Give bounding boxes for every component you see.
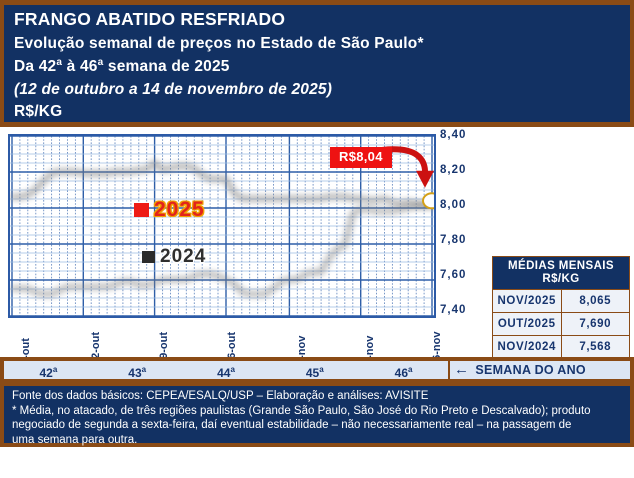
averages-title-cell: MÉDIAS MENSAIS R$/KG (493, 257, 630, 290)
week-number-bar: 42a 43a 44a 45a 46a ← SEMANA DO ANO (0, 357, 634, 383)
week-axis-caption: ← SEMANA DO ANO (454, 361, 586, 379)
table-row: NOV/2024 7,568 (493, 336, 630, 359)
header-panel: FRANGO ABATIDO RESFRIADO Evolução semana… (0, 0, 634, 127)
week-range-post: semana de 2025 (103, 58, 229, 75)
legend-item-2025: 2025 (134, 199, 205, 220)
arrow-left-icon: ← (454, 361, 469, 379)
averages-row-label: OUT/2025 (493, 313, 562, 336)
table-header-row: MÉDIAS MENSAIS R$/KG (493, 257, 630, 290)
chart-zone: 2025 2024 R$8,04 8,40 8,20 8,00 7,80 7,6… (0, 127, 634, 355)
y-tick-label: 8,20 (440, 165, 492, 177)
footer-note-line: negociado de segunda a sexta-feira, daí … (12, 418, 624, 433)
week-list: 42a 43a 44a 45a 46a (4, 361, 448, 379)
week-sup: a (53, 365, 57, 374)
footer-note-line: * Média, no atacado, de três regiões pau… (12, 404, 624, 419)
week-number: 46 (395, 366, 408, 380)
week-cell: 45a (270, 361, 359, 379)
week-sup: a (142, 365, 146, 374)
week-divider (448, 361, 450, 379)
y-tick-label: 7,60 (440, 270, 492, 282)
week-cell: 46a (359, 361, 448, 379)
y-tick-label: 8,00 (440, 200, 492, 212)
legend-label-2025: 2025 (154, 199, 205, 220)
footer-source-line: Fonte dos dados básicos: CEPEA/ESALQ/USP… (12, 389, 624, 404)
y-tick-label: 7,40 (440, 305, 492, 317)
averages-row-label: NOV/2025 (493, 290, 562, 313)
week-sup: a (230, 365, 234, 374)
week-sup: a (319, 365, 323, 374)
week-number: 45 (306, 366, 319, 380)
averages-row-label: NOV/2024 (493, 336, 562, 359)
plot-wrapper: 2025 2024 R$8,04 (8, 134, 436, 318)
y-axis-labels: 8,40 8,20 8,00 7,80 7,60 7,40 (440, 127, 492, 325)
table-row: NOV/2025 8,065 (493, 290, 630, 313)
week-cell: 42a (4, 361, 93, 379)
week-axis-caption-text: SEMANA DO ANO (475, 361, 586, 379)
footer-panel: Fonte dos dados básicos: CEPEA/ESALQ/USP… (0, 383, 634, 447)
footer-note-line: uma semana para outra. (12, 433, 624, 448)
averages-title-line2: R$/KG (495, 273, 627, 286)
week-number: 42 (39, 366, 52, 380)
averages-row-value: 8,065 (561, 290, 630, 313)
week-number: 43 (128, 366, 141, 380)
monthly-averages-table: MÉDIAS MENSAIS R$/KG NOV/2025 8,065 OUT/… (492, 256, 630, 359)
legend-item-2024: 2024 (142, 247, 206, 266)
legend-label-2024: 2024 (160, 247, 206, 266)
week-range-pre: Da 42 (14, 58, 56, 75)
unit-line: R$/KG (14, 104, 630, 120)
legend-swatch-2024-icon (142, 251, 155, 263)
week-range-mid: à 46 (62, 58, 97, 75)
page-title: FRANGO ABATIDO RESFRIADO (14, 11, 630, 29)
price-callout-badge: R$8,04 (330, 147, 392, 168)
legend-swatch-2025-icon (134, 203, 149, 217)
week-cell: 44a (182, 361, 271, 379)
averages-title-line1: MÉDIAS MENSAIS (495, 260, 627, 273)
date-range-line: (12 de outubro a 14 de novembro de 2025) (14, 82, 630, 98)
y-tick-label: 7,80 (440, 235, 492, 247)
week-sup: a (408, 365, 412, 374)
averages-row-value: 7,568 (561, 336, 630, 359)
week-cell: 43a (93, 361, 182, 379)
table-row: OUT/2025 7,690 (493, 313, 630, 336)
infographic-page: FRANGO ABATIDO RESFRIADO Evolução semana… (0, 0, 634, 447)
y-tick-label: 8,40 (440, 130, 492, 142)
week-range-line: Da 42a à 46a semana de 2025 (14, 58, 630, 75)
week-number: 44 (217, 366, 230, 380)
averages-row-value: 7,690 (561, 313, 630, 336)
page-subtitle: Evolução semanal de preços no Estado de … (14, 36, 630, 52)
